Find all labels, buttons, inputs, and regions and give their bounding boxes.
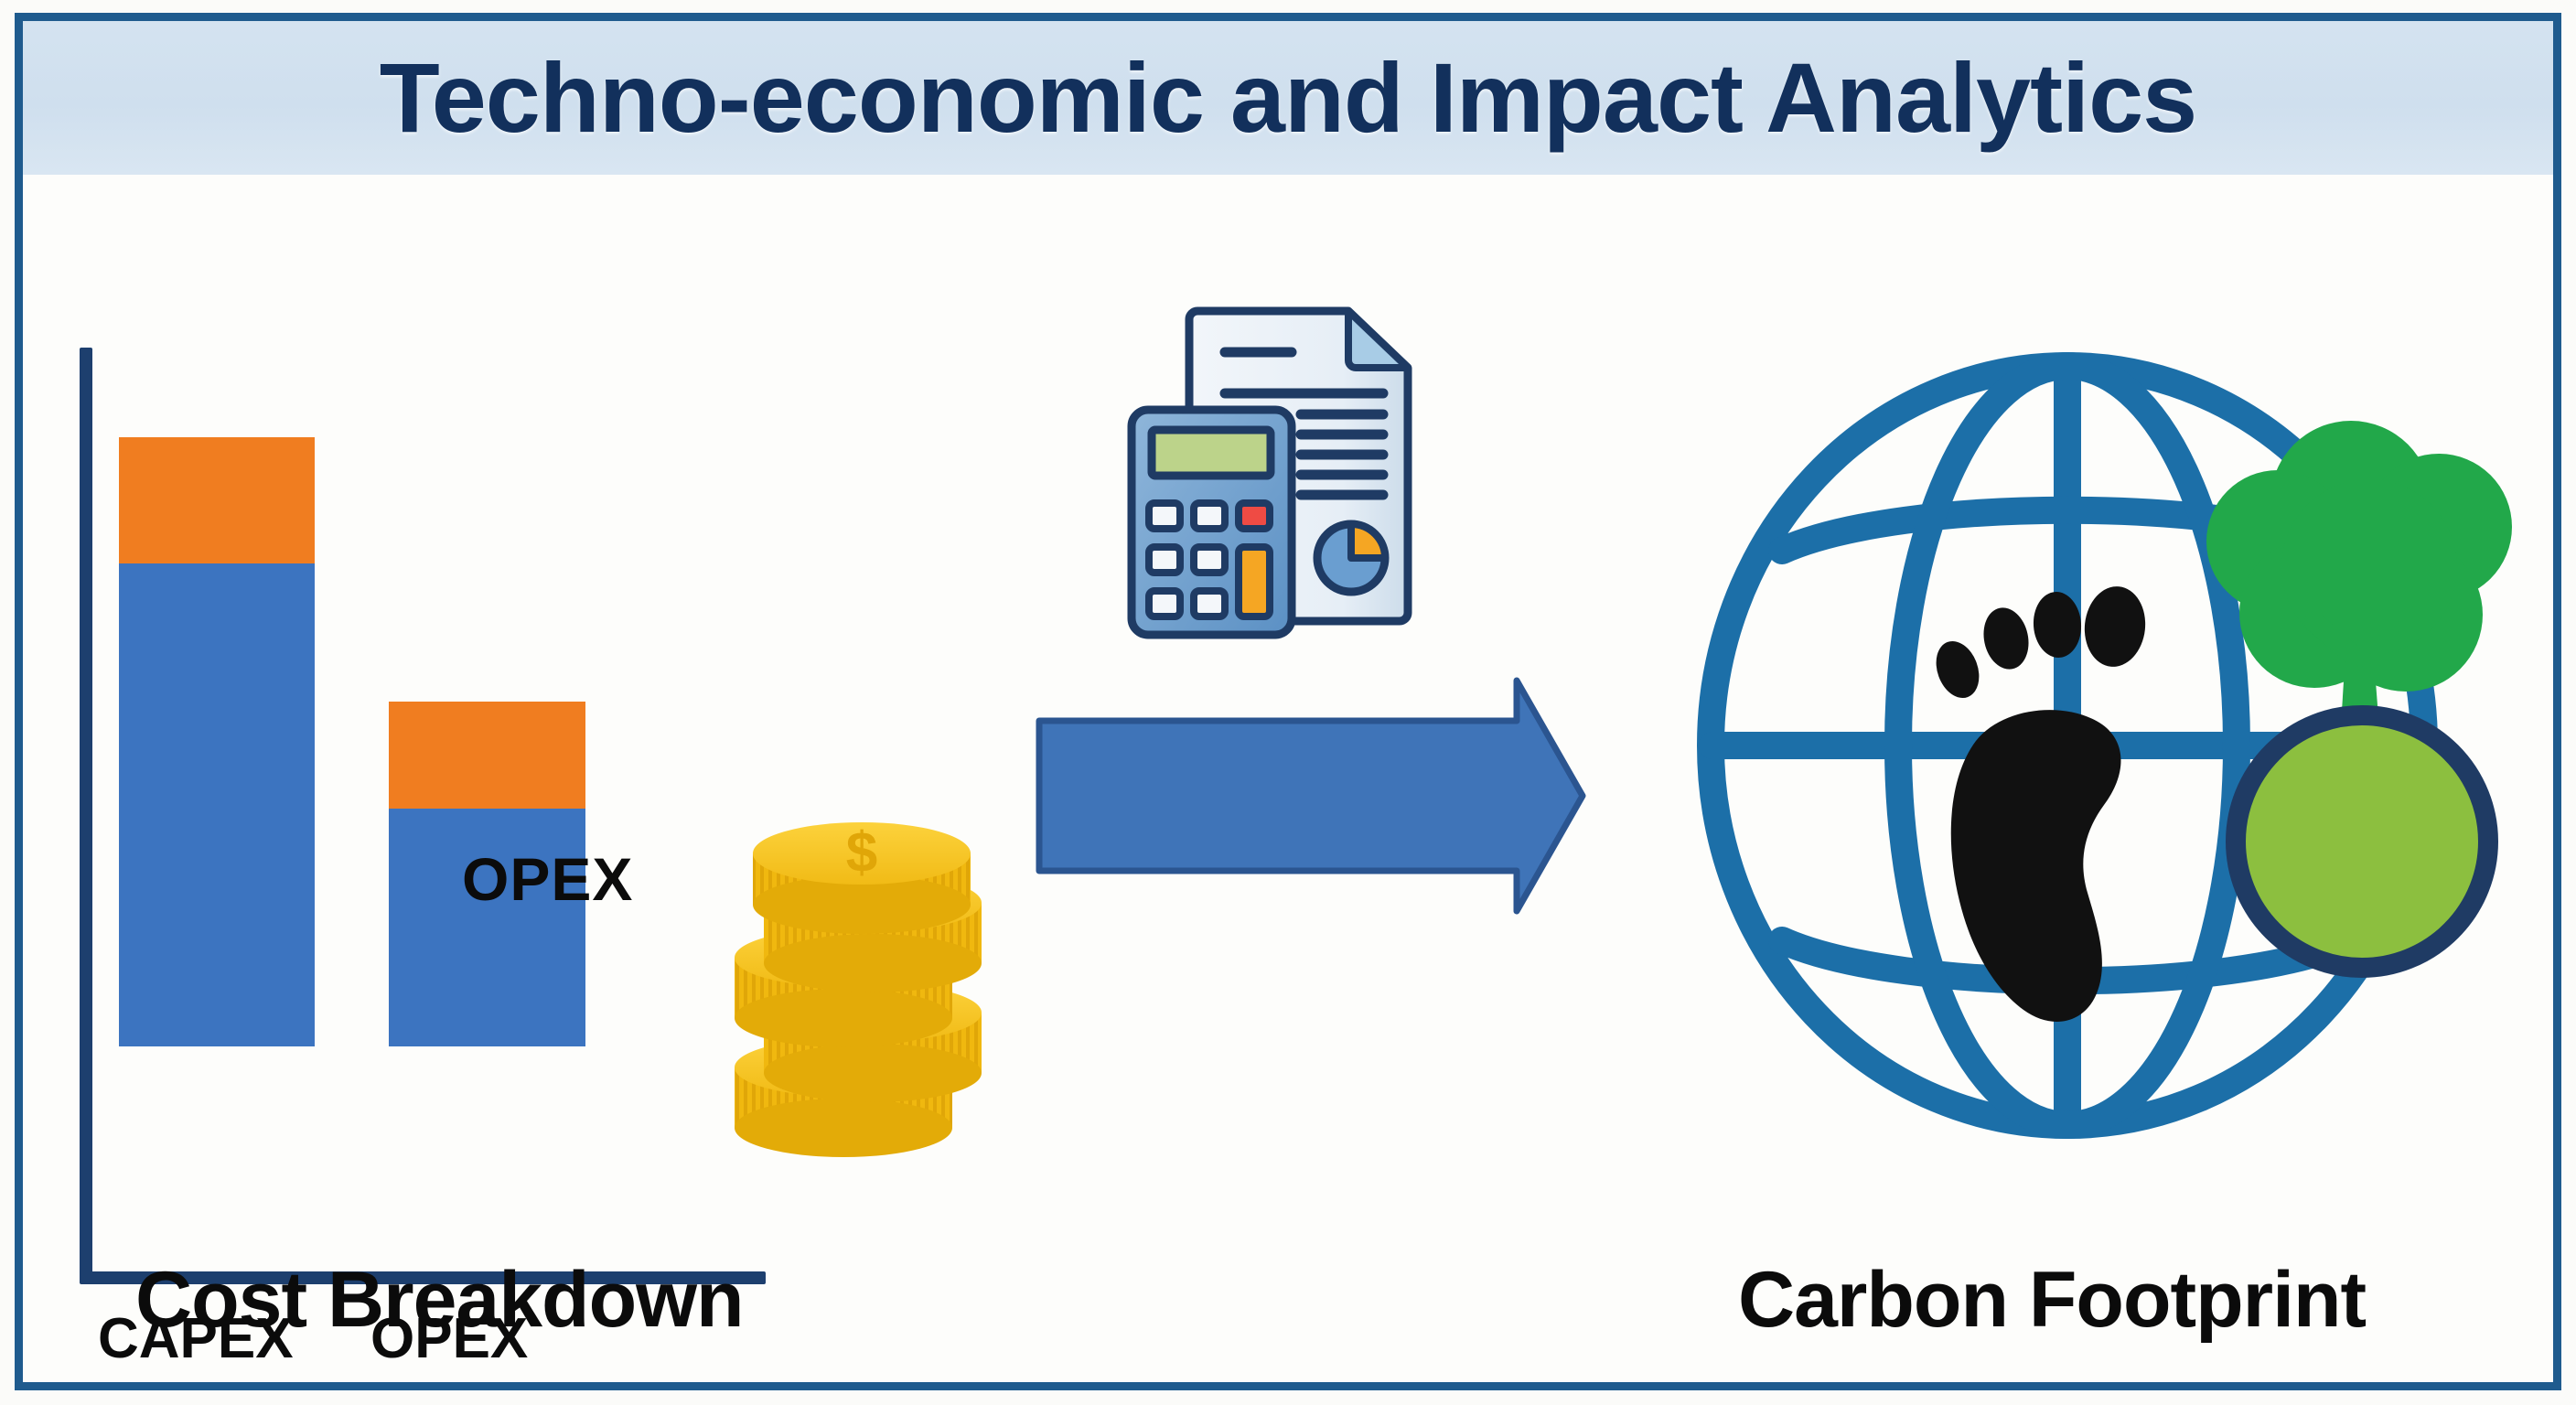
calculator-keypad [1149, 503, 1270, 617]
page-title: Techno-economic and Impact Analytics [380, 48, 2196, 147]
green-earth-circle [2236, 715, 2488, 968]
calculator-body [1132, 410, 1292, 635]
infographic-canvas: Techno-economic and Impact Analytics OPE… [0, 0, 2576, 1405]
footprint-icon [1928, 584, 2149, 1022]
bar-opex-value-label: OPEX [462, 844, 633, 914]
calculator-display [1152, 430, 1271, 476]
header-band: Techno-economic and Impact Analytics [23, 21, 2553, 175]
coin-stack-icon: $ [727, 810, 1006, 1162]
carbon-footprint-caption: Carbon Footprint [1738, 1255, 2366, 1346]
tree-icon [2206, 421, 2512, 741]
bar-capex [119, 437, 315, 1046]
right-arrow-icon [1023, 677, 1590, 915]
bar-opex-opex-segment [389, 702, 585, 809]
bar-capex-opex-segment [119, 437, 315, 563]
cost-breakdown-panel: OPEX CAPEX OPEX [23, 183, 993, 1363]
coin-dollar-symbol: $ [846, 821, 877, 885]
cost-breakdown-caption: Cost Breakdown [135, 1255, 744, 1346]
carbon-footprint-graphic [1674, 348, 2552, 1143]
calculator-document-icon [1127, 284, 1438, 640]
pie-chart-icon [1317, 524, 1385, 592]
bar-capex-capex-segment [119, 563, 315, 1046]
chart-y-axis [80, 348, 92, 1282]
